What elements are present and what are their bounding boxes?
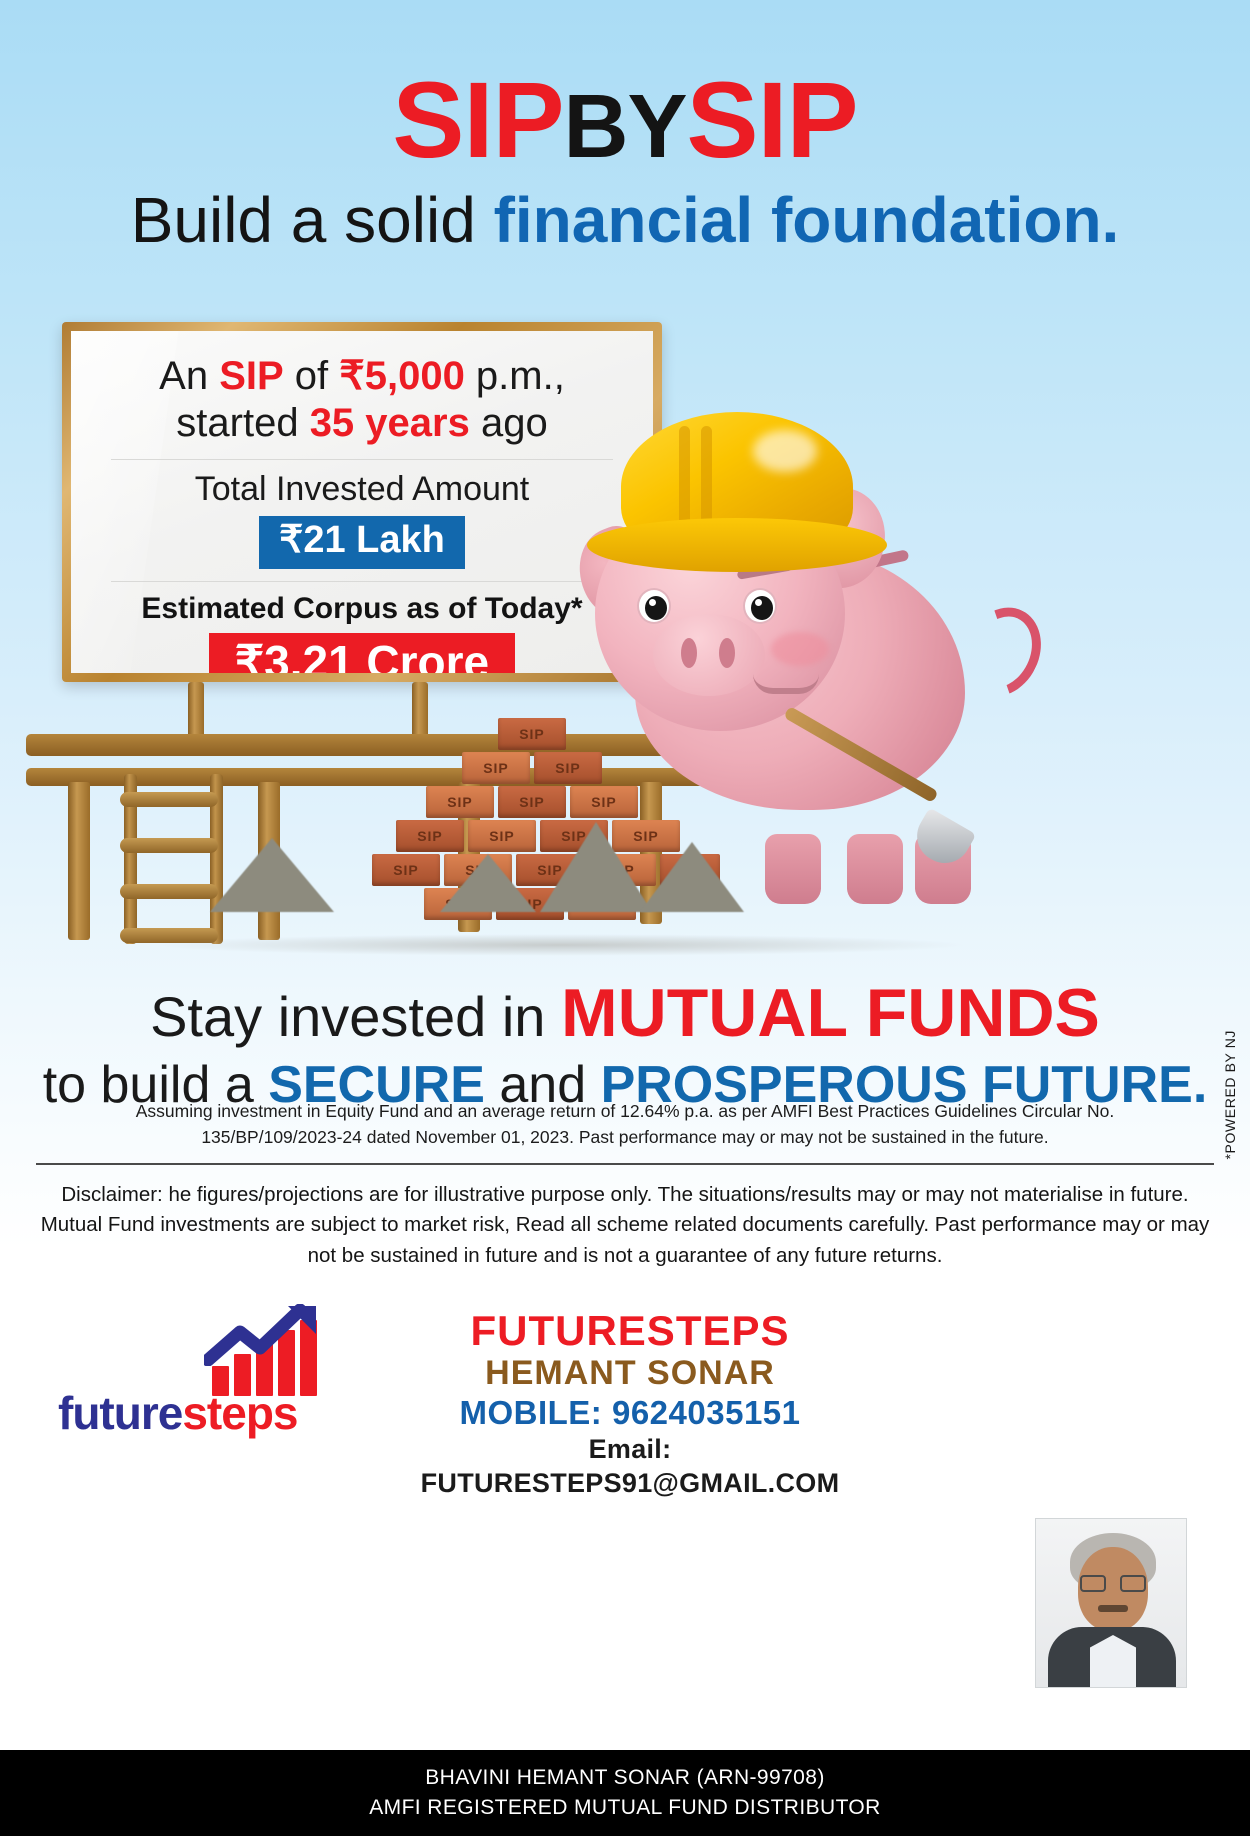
brick: SIP bbox=[426, 786, 494, 818]
hard-hat-highlight bbox=[753, 430, 817, 472]
billboard-sip-line-2: started 35 years ago bbox=[89, 400, 635, 447]
brick: SIP bbox=[372, 854, 440, 886]
corpus-value: ₹3.21 Crore bbox=[209, 633, 515, 673]
contact-email[interactable]: Email: FUTURESTEPS91@GMAIL.COM bbox=[380, 1433, 880, 1501]
dirt-pile-1 bbox=[210, 838, 334, 912]
headline-sip-2: SIP bbox=[687, 59, 858, 180]
pig-pupil bbox=[645, 596, 667, 620]
hard-hat-brim bbox=[587, 518, 887, 572]
logo-growth-chart-icon bbox=[210, 1322, 320, 1396]
corpus-label: Estimated Corpus as of Today* bbox=[89, 592, 635, 626]
corpus-unit: Crore bbox=[354, 636, 489, 673]
pig-mouth bbox=[753, 674, 819, 694]
ground-shadow bbox=[150, 934, 970, 956]
brick: SIP bbox=[396, 820, 464, 852]
brick: SIP bbox=[468, 820, 536, 852]
bb-text-sip: SIP bbox=[219, 354, 283, 398]
logo-wordmark: futuresteps bbox=[58, 1386, 298, 1440]
contact-person-name: HEMANT SONAR bbox=[380, 1354, 880, 1393]
photo-glasses-icon bbox=[1080, 1575, 1146, 1592]
pig-nostril bbox=[719, 638, 735, 668]
sub-mutual-funds: MUTUAL FUNDS bbox=[561, 975, 1100, 1051]
hard-hat-ridge bbox=[701, 426, 712, 530]
brick: SIP bbox=[498, 786, 566, 818]
pig-leg bbox=[847, 834, 903, 904]
logo-word-future: future bbox=[58, 1387, 182, 1439]
billboard-divider-1 bbox=[111, 459, 613, 460]
invested-amount-label: Total Invested Amount bbox=[89, 470, 635, 509]
pig-leg bbox=[765, 834, 821, 904]
powered-by-label: *POWERED BY NJ bbox=[1222, 1030, 1238, 1160]
contact-mobile[interactable]: MOBILE: 9624035151 bbox=[380, 1393, 880, 1433]
sub-headline: Stay invested in MUTUAL FUNDS to build a… bbox=[0, 975, 1250, 1117]
pig-pupil bbox=[751, 596, 773, 620]
ladder-rung-1 bbox=[120, 792, 218, 807]
invested-amount-value: ₹21 Lakh bbox=[259, 516, 465, 569]
photo-lens bbox=[1120, 1575, 1146, 1592]
pig-snout bbox=[653, 614, 765, 696]
headline-line-1: SIPBYSIP bbox=[0, 66, 1250, 174]
bb-text-years: 35 years bbox=[310, 401, 470, 445]
footer-distributor-name: BHAVINI HEMANT SONAR (ARN-99708) bbox=[425, 1763, 824, 1793]
billboard-face: An SIP of ₹5,000 p.m., started 35 years … bbox=[71, 331, 653, 673]
sub-stay-invested: Stay invested in bbox=[150, 985, 561, 1048]
headline-by: BY bbox=[563, 77, 686, 177]
footer-bar: BHAVINI HEMANT SONAR (ARN-99708) AMFI RE… bbox=[0, 1750, 1250, 1836]
billboard: An SIP of ₹5,000 p.m., started 35 years … bbox=[62, 322, 662, 682]
logo-word-steps: steps bbox=[182, 1387, 297, 1439]
brick: SIP bbox=[462, 752, 530, 784]
footer-distributor-title: AMFI REGISTERED MUTUAL FUND DISTRIBUTOR bbox=[369, 1793, 880, 1823]
bb-text-pm: p.m., bbox=[465, 354, 565, 398]
ladder-rung-3 bbox=[120, 884, 218, 899]
contact-brand: FUTURESTEPS bbox=[380, 1308, 880, 1354]
pig-blush bbox=[771, 632, 829, 666]
pig-eye-right bbox=[743, 588, 777, 624]
assumption-note: Assuming investment in Equity Fund and a… bbox=[100, 1098, 1150, 1151]
bb-text-an: An bbox=[159, 354, 219, 398]
hard-hat-icon bbox=[587, 412, 887, 580]
photo-lens bbox=[1080, 1575, 1106, 1592]
piggy-bank-mascot bbox=[575, 418, 1005, 898]
brick: SIP bbox=[498, 718, 566, 750]
hard-hat-ridge bbox=[679, 426, 690, 530]
advisor-photo bbox=[1035, 1518, 1187, 1688]
pig-eye-left bbox=[637, 588, 671, 624]
dirt-pile-2 bbox=[440, 854, 536, 912]
futuresteps-logo: futuresteps bbox=[58, 1320, 328, 1440]
ladder-rung-2 bbox=[120, 838, 218, 853]
headline-financial-foundation: financial foundation. bbox=[494, 184, 1120, 256]
support-post-short-1 bbox=[188, 682, 204, 740]
pig-nostril bbox=[681, 638, 697, 668]
logo-arrow-icon bbox=[204, 1304, 320, 1366]
horizontal-divider bbox=[36, 1163, 1214, 1165]
corpus-number: ₹3.21 bbox=[235, 636, 354, 673]
disclaimer-text: Disclaimer: he figures/projections are f… bbox=[40, 1180, 1210, 1271]
billboard-divider-2 bbox=[111, 581, 613, 582]
poster-headline: SIPBYSIP Build a solid financial foundat… bbox=[0, 66, 1250, 260]
bb-text-ago: ago bbox=[470, 401, 548, 445]
bb-text-amount: ₹5,000 bbox=[339, 354, 465, 398]
photo-moustache bbox=[1098, 1605, 1128, 1612]
support-post-1 bbox=[68, 782, 90, 940]
headline-line-2: Build a solid financial foundation. bbox=[0, 180, 1250, 260]
bb-text-started: started bbox=[176, 401, 309, 445]
sub-headline-line-1: Stay invested in MUTUAL FUNDS bbox=[0, 975, 1250, 1051]
contact-block: FUTURESTEPS HEMANT SONAR MOBILE: 9624035… bbox=[380, 1308, 880, 1500]
headline-sip-1: SIP bbox=[392, 59, 563, 180]
billboard-sip-line-1: An SIP of ₹5,000 p.m., bbox=[89, 353, 635, 400]
illustration-scene: An SIP of ₹5,000 p.m., started 35 years … bbox=[0, 318, 1250, 958]
headline-build-text: Build a solid bbox=[131, 184, 494, 256]
bb-text-of: of bbox=[284, 354, 340, 398]
